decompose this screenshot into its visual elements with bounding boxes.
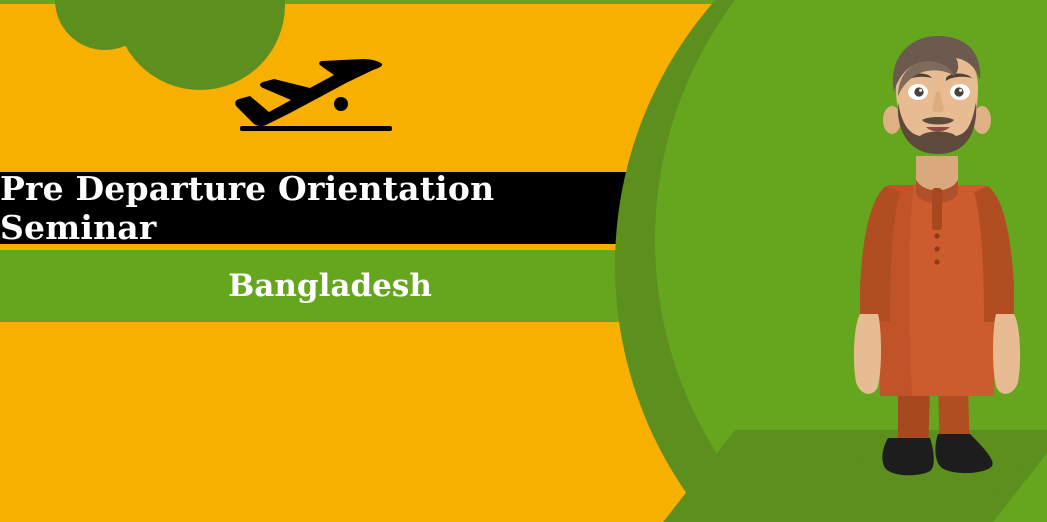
runway-line xyxy=(240,126,392,131)
page-title: Pre Departure Orientation Seminar xyxy=(0,172,660,244)
pre-departure-seminar-banner: Pre Departure Orientation Seminar Bangla… xyxy=(0,0,1047,522)
subtitle-country: Bangladesh xyxy=(0,250,660,322)
man-in-orange-kurta-illustration xyxy=(820,30,1047,522)
